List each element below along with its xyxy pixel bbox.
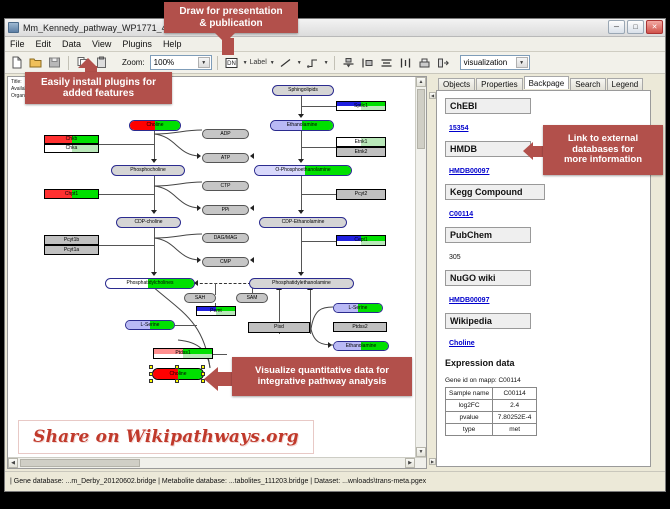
node-label: L-Serine xyxy=(141,323,160,328)
scroll-thumb[interactable] xyxy=(20,459,140,467)
db-header-pubchem: PubChem xyxy=(445,227,531,243)
cofactor-curve-dag-cmp xyxy=(148,226,208,271)
node-ptdss1[interactable]: Ptdss1 xyxy=(153,348,213,359)
cofactor-curve-ctp-ppi xyxy=(148,174,208,219)
edge-pcyt1-to-trunk xyxy=(99,245,154,246)
node-label: Ptdss2 xyxy=(352,325,367,330)
edge-lserine-link xyxy=(175,325,197,326)
align-top-icon[interactable] xyxy=(340,54,357,71)
node-label: CDP-choline xyxy=(134,220,162,225)
cell-value: met xyxy=(493,424,537,436)
draw-callout-pointer-icon xyxy=(215,33,235,43)
node-phosphatidylcholines[interactable]: Phosphatidylcholines xyxy=(105,278,195,289)
selection-handle[interactable] xyxy=(175,379,179,383)
toolbar-separator-1 xyxy=(68,56,69,70)
node-o-phosphoethanolamine[interactable]: O-Phosphoethanolamine xyxy=(254,165,352,176)
align-left-icon[interactable] xyxy=(359,54,376,71)
tab-properties[interactable]: Properties xyxy=(476,78,522,90)
menu-data[interactable]: Data xyxy=(61,39,82,49)
distribute-horizontal-icon[interactable] xyxy=(397,54,414,71)
zoom-value: 100% xyxy=(154,58,174,67)
chevron-down-icon[interactable]: ▼ xyxy=(198,57,210,68)
arrow-icon xyxy=(298,159,304,163)
toolbar-separator-3 xyxy=(334,56,335,70)
canvas-vertical-scrollbar[interactable]: ▲ ▼ xyxy=(415,77,426,468)
selection-handle[interactable] xyxy=(149,365,153,369)
node-adp[interactable]: ADP xyxy=(202,129,249,139)
datanode-dropdown-icon[interactable]: ▼ xyxy=(243,60,248,66)
zoom-combo[interactable]: 100% ▼ xyxy=(150,55,212,70)
db-link-chebi[interactable]: 15354 xyxy=(449,125,468,132)
node-etnk1[interactable]: Etnk1 xyxy=(336,137,386,147)
visualize-callout-line1: Visualize quantitative data for xyxy=(255,366,389,377)
toolbar-separator-2 xyxy=(217,56,218,70)
share-banner-text: Share on Wikipathways.org xyxy=(33,427,299,447)
cell-value: 2.4 xyxy=(493,400,537,412)
splitter-expand-icon[interactable]: ▶ xyxy=(429,458,436,465)
selection-handle[interactable] xyxy=(149,372,153,376)
node-label: Ethanolamine xyxy=(287,123,318,128)
db-header-wikipedia: Wikipedia xyxy=(445,313,531,329)
scroll-left-icon[interactable]: ◀ xyxy=(8,458,18,468)
draw-callout-line1: Draw for presentation xyxy=(179,6,282,18)
menu-edit[interactable]: Edit xyxy=(35,39,53,49)
scroll-up-icon[interactable]: ▲ xyxy=(416,77,426,87)
node-pcyt2[interactable]: Pcyt2 xyxy=(336,189,386,200)
app-icon xyxy=(8,22,19,33)
group-icon[interactable] xyxy=(416,54,433,71)
share-banner: Share on Wikipathways.org xyxy=(18,420,314,454)
cell-key: log2FC xyxy=(446,400,493,412)
node-label: Ptdss1 xyxy=(175,351,190,356)
visualization-combo[interactable]: visualization ▼ xyxy=(460,55,530,70)
db-value-pubchem: 305 xyxy=(449,254,461,261)
node-label: CMP xyxy=(220,260,231,265)
edge-ptdss1-link xyxy=(213,354,227,355)
line-dropdown-icon[interactable]: ▼ xyxy=(297,60,302,66)
plugins-callout-line1: Easily install plugins for xyxy=(41,77,156,89)
node-label: Pisd xyxy=(274,325,284,330)
node-label: Sphingolipids xyxy=(288,88,318,93)
db-header-hmdb: HMDB xyxy=(445,141,531,157)
tab-search[interactable]: Search xyxy=(570,78,605,90)
node-label: Pcyt2 xyxy=(355,192,368,197)
node-sptlc1[interactable]: Sptlc1 xyxy=(336,101,386,111)
node-pcyt1b[interactable]: Pcyt1b xyxy=(44,235,99,245)
expression-table: Sample name C00114 log2FC 2.4 pvalue 7.8… xyxy=(445,387,537,436)
status-bar: | Gene database: ...m_Derby_20120602.bri… xyxy=(5,471,665,491)
canvas-horizontal-scrollbar[interactable]: ◀ ▶ xyxy=(8,457,426,468)
title-bar: Mm_Kennedy_pathway_WP1771_45176.gpml ─ □… xyxy=(5,19,665,37)
pathway-canvas[interactable]: Title: Availab Organi xyxy=(7,76,427,469)
maximize-button[interactable]: □ xyxy=(627,20,644,34)
node-label: Choline xyxy=(170,372,187,377)
node-pemt[interactable]: Pemt xyxy=(196,306,236,316)
window-controls: ─ □ ✕ xyxy=(608,20,663,34)
node-ethanolamine[interactable]: Ethanolamine xyxy=(270,120,334,131)
cell-value: C00114 xyxy=(493,388,537,400)
db-header-chebi: ChEBI xyxy=(445,98,531,114)
visualize-callout-pointer-icon xyxy=(204,367,218,391)
cell-key: pvalue xyxy=(446,412,493,424)
tab-backpage[interactable]: Backpage xyxy=(524,76,570,89)
edge-cept1-to-trunk xyxy=(301,241,336,242)
node-label: SAM xyxy=(247,296,258,301)
side-panel-tabs: Objects Properties Backpage Search Legen… xyxy=(438,76,663,90)
plugins-callout: Easily install plugins for added feature… xyxy=(25,72,172,104)
node-dag-mag[interactable]: DAG/MAG xyxy=(202,233,249,243)
arrow-icon xyxy=(250,257,254,263)
table-row: type met xyxy=(446,424,537,436)
plugins-callout-line2: added features xyxy=(63,88,134,100)
scroll-thumb[interactable] xyxy=(417,89,425,149)
node-label: L-Serine xyxy=(349,306,368,311)
node-chkb[interactable]: Chkb xyxy=(44,135,99,144)
edge-cdpetn-ptdetn xyxy=(301,228,302,274)
visualize-callout-line2: integrative pathway analysis xyxy=(258,377,387,388)
expression-data-heading: Expression data xyxy=(445,358,650,368)
cell-value: 7.80252E-4 xyxy=(493,412,537,424)
node-choline-top[interactable]: Choline xyxy=(129,120,181,131)
edge-sptlc1-to-trunk xyxy=(301,106,336,107)
node-etnk2[interactable]: Etnk2 xyxy=(336,147,386,157)
label-tool[interactable]: Label xyxy=(250,59,267,66)
links-callout-line3: more information xyxy=(564,155,642,166)
scroll-down-icon[interactable]: ▼ xyxy=(416,447,426,457)
links-callout-line1: Link to external xyxy=(568,134,638,145)
connector-tool-icon[interactable] xyxy=(304,54,321,71)
node-phosphocholine[interactable]: Phosphocholine xyxy=(111,165,185,176)
draw-callout: Draw for presentation & publication xyxy=(164,2,298,33)
node-label: Phosphocholine xyxy=(130,168,166,173)
line-tool-icon[interactable] xyxy=(277,54,294,71)
selection-handle[interactable] xyxy=(175,365,179,369)
node-label: CTP xyxy=(221,184,231,189)
order-icon[interactable] xyxy=(435,54,452,71)
visualization-value: visualization xyxy=(464,58,508,67)
node-label: Chka xyxy=(66,146,78,151)
node-cdp-ethanolamine[interactable]: CDP-Ethanolamine xyxy=(259,217,347,228)
arrow-icon xyxy=(328,342,332,348)
node-sah[interactable]: SAH xyxy=(184,293,216,303)
menu-help[interactable]: Help xyxy=(162,39,183,49)
node-label: Phosphatidylcholines xyxy=(127,281,174,286)
tab-legend[interactable]: Legend xyxy=(607,78,644,90)
connector-dropdown-icon[interactable]: ▼ xyxy=(324,60,329,66)
node-chka[interactable]: Chka xyxy=(44,144,99,153)
node-ppi[interactable]: PPi xyxy=(202,205,249,215)
db-header-nugo: NuGO wiki xyxy=(445,270,531,286)
menu-view[interactable]: View xyxy=(91,39,112,49)
node-label: ATP xyxy=(221,156,230,161)
close-button[interactable]: ✕ xyxy=(646,20,663,34)
node-cmp[interactable]: CMP xyxy=(202,257,249,267)
cell-key: type xyxy=(446,424,493,436)
open-folder-icon[interactable] xyxy=(27,54,44,71)
edge-etn-phosphoetn xyxy=(301,131,302,161)
node-label: Pcyt1b xyxy=(64,238,79,243)
toolbar: Zoom: 100% ▼ DN ▼ Label ▼ ▼ ▼ xyxy=(5,52,665,74)
edge-chpt1-to-trunk xyxy=(99,194,154,195)
node-chpt1[interactable]: Chpt1 xyxy=(44,189,99,199)
node-label: Sptlc1 xyxy=(354,104,368,109)
scroll-right-icon[interactable]: ▶ xyxy=(405,458,415,468)
node-phosphatidylethanolamine[interactable]: Phosphatidylethanolamine xyxy=(249,278,354,289)
svg-text:DN: DN xyxy=(227,61,236,67)
splitter-collapse-icon[interactable]: ◀ xyxy=(429,92,436,99)
menu-plugins[interactable]: Plugins xyxy=(121,39,153,49)
minimize-button[interactable]: ─ xyxy=(608,20,625,34)
db-link-kegg[interactable]: C00114 xyxy=(449,211,473,218)
arrow-icon xyxy=(197,205,201,211)
datanode-tool-icon[interactable]: DN xyxy=(223,54,240,71)
links-callout-pointer-icon xyxy=(523,142,533,160)
table-row: Sample name C00114 xyxy=(446,388,537,400)
selection-handle[interactable] xyxy=(149,379,153,383)
node-label: Choline xyxy=(147,123,164,128)
node-label: Chpt1 xyxy=(65,192,78,197)
node-label: ADP xyxy=(220,132,230,137)
zoom-label: Zoom: xyxy=(122,58,145,67)
plugins-callout-pointer-icon xyxy=(78,58,98,68)
node-cept1[interactable]: Cept1 xyxy=(336,235,386,246)
arrow-icon xyxy=(197,153,201,159)
arrow-icon xyxy=(250,205,254,211)
gene-id-on-mapp: Gene id on mapp: C00114 xyxy=(445,377,650,384)
visualization-chevron-icon[interactable]: ▼ xyxy=(516,57,528,68)
table-row: log2FC 2.4 xyxy=(446,400,537,412)
node-pcyt1a[interactable]: Pcyt1a xyxy=(44,245,99,255)
table-row: pvalue 7.80252E-4 xyxy=(446,412,537,424)
node-label: Etnk1 xyxy=(355,140,368,145)
edge-etnk-to-trunk xyxy=(301,147,336,148)
label-dropdown-icon[interactable]: ▼ xyxy=(270,60,275,66)
new-document-icon[interactable] xyxy=(8,54,25,71)
node-label: Chkb xyxy=(66,137,78,142)
arrow-icon xyxy=(298,210,304,214)
tab-objects[interactable]: Objects xyxy=(438,78,475,90)
db-link-hmdb[interactable]: HMDB00097 xyxy=(449,168,489,175)
status-text: | Gene database: ...m_Derby_20120602.bri… xyxy=(10,478,426,485)
db-link-nugo[interactable]: HMDB00097 xyxy=(449,297,489,304)
node-label: Pcyt1a xyxy=(64,248,79,253)
node-cdp-choline[interactable]: CDP-choline xyxy=(116,217,181,228)
arrow-icon xyxy=(298,272,304,276)
node-pisd[interactable]: Pisd xyxy=(248,322,310,333)
node-label: DAG/MAG xyxy=(214,236,238,241)
node-l-serine-right[interactable]: L-Serine xyxy=(333,303,383,313)
panel-splitter[interactable]: ◀ ▶ xyxy=(430,92,436,465)
node-l-serine-left[interactable]: L-Serine xyxy=(125,320,175,330)
node-label: SAH xyxy=(195,296,205,301)
menu-bar: File Edit Data View Plugins Help xyxy=(5,37,665,52)
node-label: Phosphatidylethanolamine xyxy=(272,281,331,286)
node-label: Cept1 xyxy=(354,238,367,243)
db-header-kegg: Kegg Compound xyxy=(445,184,545,200)
db-link-wikipedia[interactable]: Choline xyxy=(449,340,475,347)
visualize-callout: Visualize quantitative data for integrat… xyxy=(232,357,412,396)
node-ethanolamine-bottom[interactable]: Ethanolamine xyxy=(333,341,389,351)
node-ptdss2[interactable]: Ptdss2 xyxy=(333,322,387,332)
arrow-icon xyxy=(298,114,304,118)
node-atp[interactable]: ATP xyxy=(202,153,249,163)
menu-file[interactable]: File xyxy=(9,39,26,49)
node-label: Pemt xyxy=(210,309,222,314)
node-ctp[interactable]: CTP xyxy=(202,181,249,191)
save-disk-icon[interactable] xyxy=(46,54,63,71)
links-callout: Link to external databases for more info… xyxy=(543,125,663,175)
arrow-icon xyxy=(250,153,254,159)
node-label: Etnk2 xyxy=(355,150,368,155)
draw-callout-line2: & publication xyxy=(199,18,262,30)
edge-pcyt2-to-trunk xyxy=(301,194,336,195)
stack-vertical-icon[interactable] xyxy=(378,54,395,71)
arrow-icon xyxy=(151,272,157,276)
cell-key: Sample name xyxy=(446,388,493,400)
arrow-icon xyxy=(197,257,201,263)
edge-chk-to-trunk xyxy=(99,144,154,145)
node-label: PPi xyxy=(222,208,230,213)
node-sphingolipids[interactable]: Sphingolipids xyxy=(272,85,334,96)
node-label: O-Phosphoethanolamine xyxy=(275,168,330,173)
node-sam[interactable]: SAM xyxy=(236,293,268,303)
node-label: CDP-Ethanolamine xyxy=(282,220,325,225)
node-label: Ethanolamine xyxy=(346,344,377,349)
